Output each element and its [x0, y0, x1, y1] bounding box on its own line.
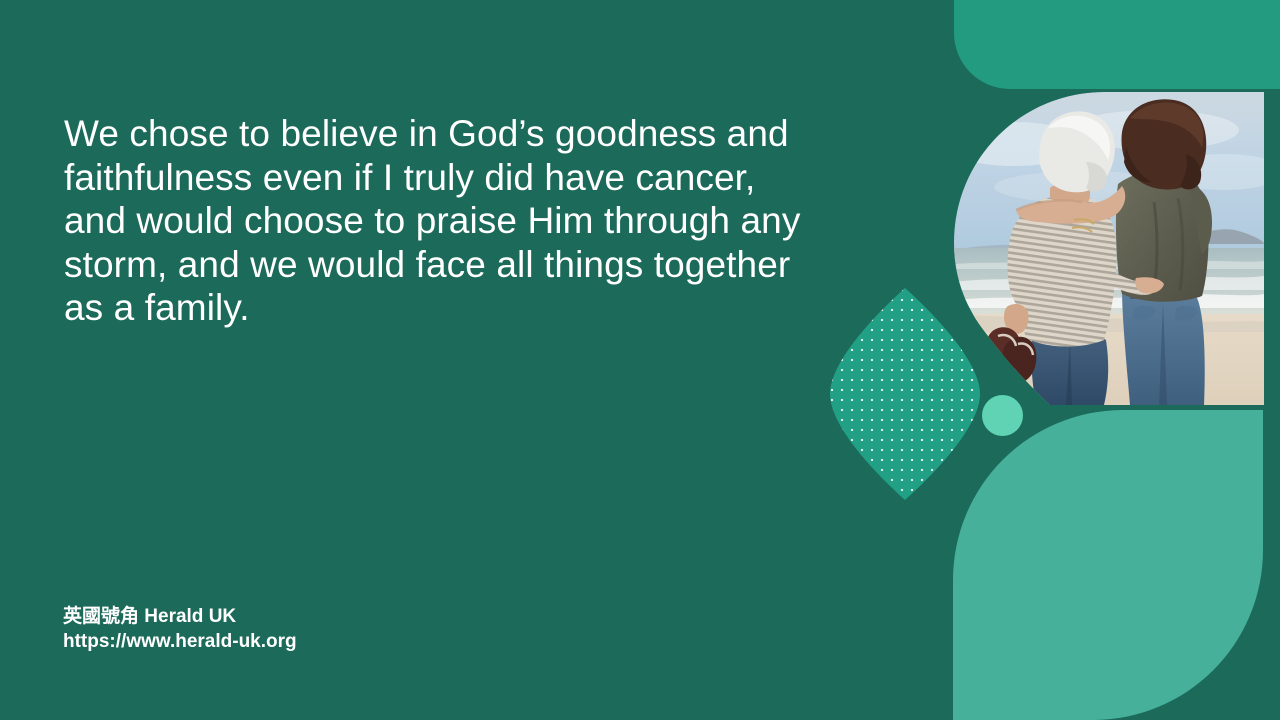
footer-organisation: 英國號角 Herald UK	[63, 604, 297, 629]
bottom-mint-leaf-decoration	[953, 410, 1263, 720]
footer-website[interactable]: https://www.herald-uk.org	[63, 629, 297, 654]
slide-canvas: We chose to believe in God’s goodness an…	[0, 0, 1280, 720]
mint-dot-decoration	[982, 395, 1023, 436]
quote-text: We chose to believe in God’s goodness an…	[64, 112, 824, 330]
top-green-band-decoration	[954, 0, 1280, 89]
footer-attribution: 英國號角 Herald UK https://www.herald-uk.org	[63, 604, 297, 654]
beach-photo	[954, 92, 1264, 405]
